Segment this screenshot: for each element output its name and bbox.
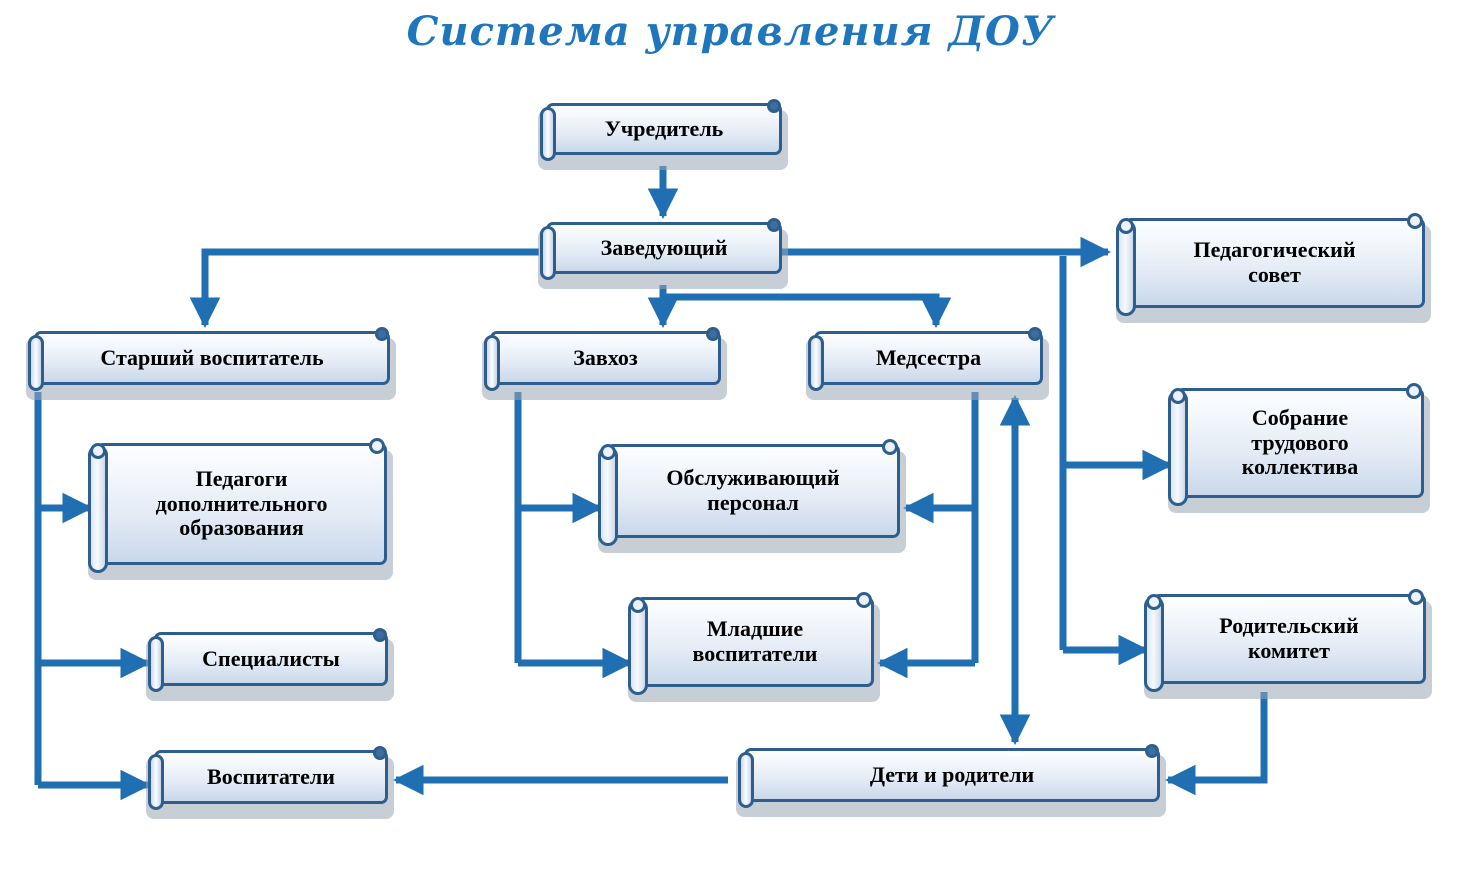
scroll-spiral-right-icon bbox=[373, 628, 387, 642]
scroll-curl-left-icon bbox=[1168, 390, 1188, 506]
node-medsestra[interactable]: Медсестра bbox=[800, 331, 1043, 393]
scroll-curl-left-icon bbox=[1116, 220, 1136, 316]
scroll-spiral-right-icon bbox=[767, 218, 781, 232]
scroll-curl-left-icon bbox=[738, 752, 754, 808]
scroll-spiral-left-icon bbox=[1118, 218, 1134, 234]
node-zavhoz[interactable]: Завхоз bbox=[476, 331, 721, 393]
edge-roditelskiy-deti bbox=[1168, 692, 1264, 780]
scroll-spiral-right-icon bbox=[882, 439, 898, 455]
node-vospitateli[interactable]: Воспитатели bbox=[140, 750, 388, 812]
scroll-curl-left-icon bbox=[148, 754, 164, 810]
node-label: Педагогический совет bbox=[1181, 236, 1367, 290]
scroll-spiral-left-icon bbox=[1146, 594, 1162, 610]
scroll-curl-left-icon bbox=[1144, 596, 1164, 692]
scroll-spiral-left-icon bbox=[600, 444, 616, 460]
node-body: Учредитель bbox=[546, 103, 782, 155]
node-body: Педагоги дополнительного образования bbox=[96, 443, 387, 565]
node-label: Заведующий bbox=[589, 234, 740, 263]
node-label: Медсестра bbox=[864, 344, 993, 373]
scroll-curl-left-icon bbox=[808, 335, 824, 391]
node-label: Специалисты bbox=[190, 645, 352, 674]
scroll-curl-left-icon bbox=[28, 335, 44, 391]
scroll-spiral-left-icon bbox=[90, 443, 106, 459]
node-body: Дети и родители bbox=[744, 748, 1160, 802]
node-label: Завхоз bbox=[561, 344, 650, 373]
scroll-curl-left-icon bbox=[484, 335, 500, 391]
node-body: Обслуживающий персонал bbox=[606, 444, 900, 538]
scroll-spiral-left-icon bbox=[1170, 388, 1186, 404]
edge-zaveduyushchiy-medsestra bbox=[663, 297, 936, 325]
node-label: Педагоги дополнительного образования bbox=[144, 465, 340, 544]
scroll-spiral-right-icon bbox=[1408, 589, 1424, 605]
scroll-curl-left-icon bbox=[88, 445, 108, 573]
node-zaveduyushchiy[interactable]: Заведующий bbox=[532, 222, 782, 282]
node-body: Специалисты bbox=[154, 632, 388, 686]
scroll-spiral-right-icon bbox=[369, 438, 385, 454]
node-label: Воспитатели bbox=[195, 763, 347, 792]
node-obsluzhivayushchiy-personal[interactable]: Обслуживающий персонал bbox=[592, 444, 900, 546]
scroll-spiral-right-icon bbox=[375, 327, 389, 341]
node-body: Медсестра bbox=[814, 331, 1043, 385]
scroll-spiral-right-icon bbox=[856, 592, 872, 608]
node-label: Младшие воспитатели bbox=[681, 615, 830, 669]
node-label: Старший воспитатель bbox=[88, 344, 335, 373]
node-body: Собрание трудового коллектива bbox=[1176, 388, 1424, 498]
node-specialisty[interactable]: Специалисты bbox=[140, 632, 388, 694]
scroll-curl-left-icon bbox=[598, 446, 618, 546]
edge-zaveduyushchiy-starshiy bbox=[205, 252, 539, 325]
node-label: Собрание трудового коллектива bbox=[1230, 404, 1371, 483]
node-label: Родительский комитет bbox=[1207, 612, 1370, 666]
node-body: Младшие воспитатели bbox=[636, 597, 874, 687]
node-body: Родительский комитет bbox=[1152, 594, 1426, 684]
node-label: Обслуживающий персонал bbox=[654, 464, 851, 518]
node-mladshie-vospitateli[interactable]: Младшие воспитатели bbox=[622, 597, 874, 695]
scroll-spiral-right-icon bbox=[1145, 744, 1159, 758]
scroll-curl-left-icon bbox=[540, 107, 556, 161]
node-uchreditel[interactable]: Учредитель bbox=[532, 103, 782, 163]
scroll-spiral-right-icon bbox=[1407, 213, 1423, 229]
scroll-curl-left-icon bbox=[628, 599, 648, 695]
node-deti-i-roditeli[interactable]: Дети и родители bbox=[730, 748, 1160, 810]
node-body: Завхоз bbox=[490, 331, 721, 385]
node-label: Дети и родители bbox=[858, 761, 1046, 790]
node-pedagogi-dopolnitelnogo-obrazovaniya[interactable]: Педагоги дополнительного образования bbox=[82, 443, 387, 573]
scroll-curl-left-icon bbox=[148, 636, 164, 692]
scroll-spiral-left-icon bbox=[630, 597, 646, 613]
diagram-canvas: Система управления ДОУ bbox=[0, 0, 1461, 894]
scroll-spiral-right-icon bbox=[767, 99, 781, 113]
node-sobranie-trudovogo-kollektiva[interactable]: Собрание трудового коллектива bbox=[1162, 388, 1424, 506]
scroll-curl-left-icon bbox=[540, 226, 556, 280]
node-pedagogicheskiy-sovet[interactable]: Педагогический совет bbox=[1110, 218, 1425, 316]
node-body: Педагогический совет bbox=[1124, 218, 1425, 308]
node-body: Заведующий bbox=[546, 222, 782, 274]
scroll-spiral-right-icon bbox=[1028, 327, 1042, 341]
node-body: Старший воспитатель bbox=[34, 331, 390, 385]
node-body: Воспитатели bbox=[154, 750, 388, 804]
scroll-spiral-right-icon bbox=[1406, 383, 1422, 399]
scroll-spiral-right-icon bbox=[373, 746, 387, 760]
node-roditelskiy-komitet[interactable]: Родительский комитет bbox=[1138, 594, 1426, 692]
node-label: Учредитель bbox=[593, 115, 736, 144]
node-starshiy-vospitatel[interactable]: Старший воспитатель bbox=[20, 331, 390, 393]
scroll-spiral-right-icon bbox=[706, 327, 720, 341]
